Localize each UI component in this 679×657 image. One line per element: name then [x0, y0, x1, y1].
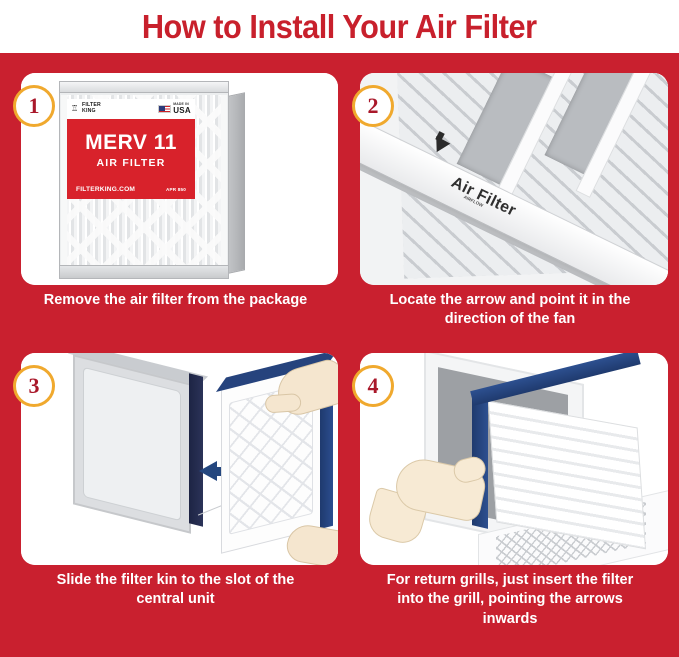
- apr-rating: APR 850: [166, 187, 186, 192]
- filter-bottom-frame: [59, 265, 229, 279]
- air-filter-illustration: ♖ FILTER KING MADE IN USA: [51, 83, 261, 283]
- step-caption-4: For return grills, just insert the filte…: [352, 571, 668, 629]
- step-badge-2: 2: [352, 85, 394, 127]
- website-label: FILTERKING.COM: [76, 186, 135, 193]
- page-title: How to Install Your Air Filter: [142, 8, 537, 46]
- step-caption-1: Remove the air filter from the package: [13, 291, 338, 310]
- steps-grid: ♖ FILTER KING MADE IN USA: [0, 53, 679, 657]
- usa-flag-icon: [158, 105, 171, 113]
- step-card-4: 4 For return grills, just insert the fil…: [352, 353, 668, 643]
- central-unit-panel: [83, 367, 181, 521]
- slide-filter-illustration: [21, 353, 338, 565]
- step-badge-3: 3: [13, 365, 55, 407]
- step-caption-3: Slide the filter kin to the slot of the …: [13, 571, 338, 610]
- step-number-2: 2: [368, 95, 379, 117]
- step-card-3: 3 Slide the filter kin to the slot of th…: [13, 353, 338, 643]
- step-1-image-card: ♖ FILTER KING MADE IN USA: [21, 73, 338, 285]
- crown-icon: ♖: [71, 104, 80, 114]
- step-caption-1-line-1: Remove the air filter from the package: [44, 292, 308, 308]
- step-caption-3-line-1: Slide the filter kin to the slot of the: [19, 571, 332, 590]
- step-number-1: 1: [29, 95, 40, 117]
- step-caption-4-line-3: inwards: [358, 610, 662, 629]
- label-header-strip: ♖ FILTER KING MADE IN USA: [67, 99, 195, 119]
- filter-product-photo: ♖ FILTER KING MADE IN USA: [21, 73, 338, 285]
- label-footer: FILTERKING.COM APR 850: [67, 186, 195, 193]
- step-caption-2: Locate the arrow and point it in the dir…: [352, 291, 668, 330]
- merv-rating: MERV 11: [85, 131, 177, 155]
- product-type-label: AIR FILTER: [97, 157, 166, 169]
- page-header: How to Install Your Air Filter: [0, 0, 679, 53]
- step-2-image-card: Air Filter AIRFLOW: [360, 73, 668, 285]
- step-badge-1: 1: [13, 85, 55, 127]
- country-label: USA: [173, 107, 191, 115]
- made-in-usa-badge: MADE IN USA: [158, 103, 191, 114]
- step-caption-4-line-1: For return grills, just insert the filte…: [358, 571, 662, 590]
- step-card-1: ♖ FILTER KING MADE IN USA: [13, 73, 338, 353]
- filter-top-frame: [59, 81, 229, 93]
- filter-king-logo: ♖ FILTER KING: [71, 103, 101, 115]
- brand-text: FILTER KING: [82, 103, 101, 115]
- step-3-image-card: [21, 353, 338, 565]
- step-badge-4: 4: [352, 365, 394, 407]
- step-caption-3-line-2: central unit: [19, 590, 332, 609]
- filter-product-label: ♖ FILTER KING MADE IN USA: [67, 99, 195, 199]
- step-caption-2-line-2: direction of the fan: [358, 310, 662, 329]
- step-number-3: 3: [29, 375, 40, 397]
- central-unit-slot: [189, 373, 203, 526]
- filter-corner-photo: Air Filter AIRFLOW: [360, 73, 668, 285]
- step-number-4: 4: [368, 375, 379, 397]
- made-in-usa-text: MADE IN USA: [173, 103, 191, 114]
- step-4-image-card: [360, 353, 668, 565]
- step-card-2: Air Filter AIRFLOW 2 Locate the arrow an…: [352, 73, 668, 353]
- step-caption-2-line-1: Locate the arrow and point it in the: [358, 291, 662, 310]
- step-caption-4-line-2: into the grill, pointing the arrows: [358, 590, 662, 609]
- return-grill-illustration: [360, 353, 668, 565]
- label-red-panel: MERV 11 AIR FILTER FILTERKING.COM APR 85…: [67, 119, 195, 199]
- brand-line-2: KING: [82, 109, 101, 115]
